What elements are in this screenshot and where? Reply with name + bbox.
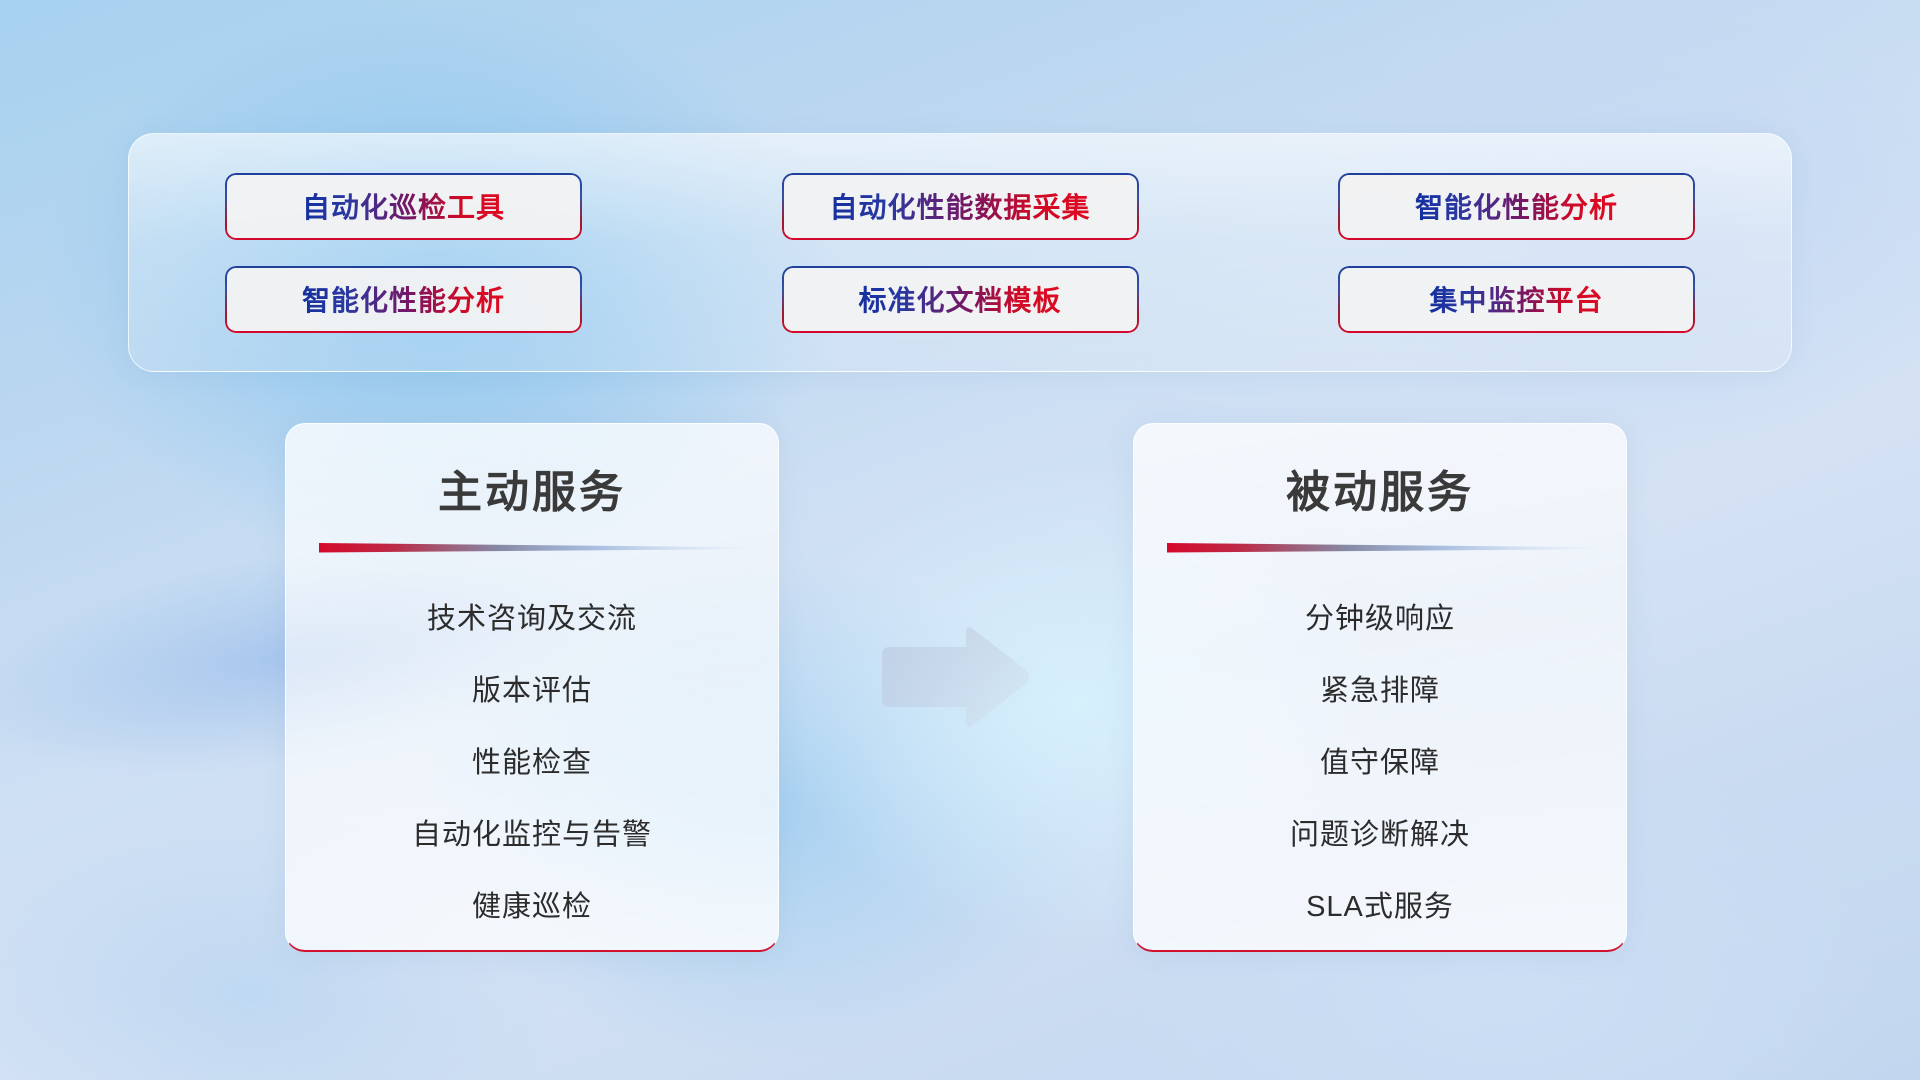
capability-tags-panel: 自动化巡检工具 自动化性能数据采集 智能化性能分析 智能化性能分析 标准化文档模… bbox=[128, 133, 1792, 372]
list-item[interactable]: 自动化监控与告警 bbox=[412, 796, 652, 868]
capability-tag-automated-perf-data-collection[interactable]: 自动化性能数据采集 bbox=[782, 173, 1139, 240]
arrow-right-icon bbox=[874, 622, 1034, 732]
capability-tag-automated-inspection-tool[interactable]: 自动化巡检工具 bbox=[225, 173, 582, 240]
capability-tag-centralized-monitoring-platform[interactable]: 集中监控平台 bbox=[1338, 266, 1695, 333]
list-item[interactable]: 技术咨询及交流 bbox=[427, 580, 637, 652]
capability-tag-label: 集中监控平台 bbox=[1429, 279, 1603, 319]
capability-tag-label: 自动化性能数据采集 bbox=[829, 186, 1090, 226]
service-card-title: 主动服务 bbox=[438, 456, 626, 520]
capability-tag-label: 智能化性能分析 bbox=[1415, 186, 1618, 226]
capability-tag-standard-doc-template[interactable]: 标准化文档模板 bbox=[782, 266, 1139, 333]
capability-tag-row-2: 智能化性能分析 标准化文档模板 集中监控平台 bbox=[225, 266, 1695, 333]
service-card-title: 被动服务 bbox=[1286, 456, 1474, 520]
capability-tag-label: 自动化巡检工具 bbox=[302, 186, 505, 226]
gradient-divider-icon bbox=[1167, 542, 1593, 554]
service-card-divider-wrap bbox=[1134, 542, 1626, 554]
list-item[interactable]: 问题诊断解决 bbox=[1290, 796, 1470, 868]
capability-tag-label: 标准化文档模板 bbox=[858, 279, 1061, 319]
capability-tag-row-1: 自动化巡检工具 自动化性能数据采集 智能化性能分析 bbox=[225, 173, 1695, 240]
list-item[interactable]: 健康巡检 bbox=[472, 868, 592, 940]
list-item[interactable]: 值守保障 bbox=[1320, 724, 1440, 796]
service-card-item-list: 分钟级响应 紧急排障 值守保障 问题诊断解决 SLA式服务 bbox=[1134, 580, 1626, 940]
service-card-item-list: 技术咨询及交流 版本评估 性能检查 自动化监控与告警 健康巡检 bbox=[286, 580, 778, 940]
list-item[interactable]: 分钟级响应 bbox=[1305, 580, 1455, 652]
list-item[interactable]: 性能检查 bbox=[472, 724, 592, 796]
gradient-divider-icon bbox=[319, 542, 745, 554]
list-item[interactable]: SLA式服务 bbox=[1306, 868, 1454, 940]
capability-tag-intelligent-perf-analysis[interactable]: 智能化性能分析 bbox=[1338, 173, 1695, 240]
service-card-reactive: 被动服务 分钟级响应 紧急排障 值守保障 问题诊断解决 bbox=[1133, 423, 1627, 952]
capability-tag-label: 智能化性能分析 bbox=[302, 279, 505, 319]
service-card-proactive: 主动服务 技术咨询及交流 版本评估 性能检查 自动化监控与告警 bbox=[285, 423, 779, 952]
list-item[interactable]: 版本评估 bbox=[472, 652, 592, 724]
list-item[interactable]: 紧急排障 bbox=[1320, 652, 1440, 724]
service-card-divider-wrap bbox=[286, 542, 778, 554]
capability-tag-intelligent-perf-analysis-2[interactable]: 智能化性能分析 bbox=[225, 266, 582, 333]
